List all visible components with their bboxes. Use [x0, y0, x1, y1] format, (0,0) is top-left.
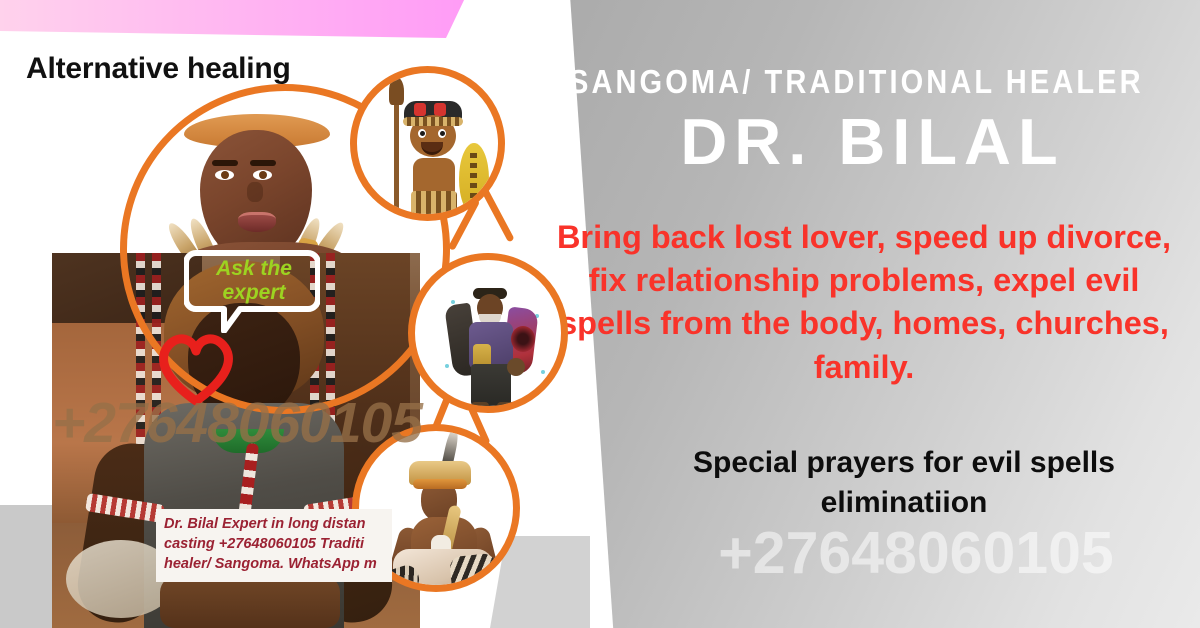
speech-bubble-label: Ask the expert [202, 257, 306, 304]
prayer-line: Special prayers for evil spells eliminat… [620, 443, 1188, 523]
page-title: Alternative healing [26, 52, 291, 86]
services-pitch: Bring back lost lover, speed up divorce,… [540, 216, 1188, 389]
pink-accent-band [0, 0, 465, 38]
photo-caption-line: healer/ Sangoma. WhatsApp m [164, 555, 386, 575]
eyebrow-label: SANGOMA/ TRADITIONAL HEALER [569, 63, 1106, 101]
phone-watermark-right: +27648060105 [636, 519, 1196, 587]
brand-name: DR. BILAL [560, 104, 1185, 179]
photo-caption-line: casting +27648060105 Traditi [164, 535, 386, 555]
phone-watermark-left: +27648060105 [52, 390, 422, 456]
circle-zulu-warrior [350, 66, 505, 221]
photo-caption-line: Dr. Bilal Expert in long distan [164, 515, 386, 535]
circle-traditional-healer [408, 253, 568, 413]
grey-left-block [0, 505, 54, 628]
photo-caption: Dr. Bilal Expert in long distan casting … [156, 509, 392, 582]
poster-canvas: Alternative healing [0, 0, 1200, 628]
